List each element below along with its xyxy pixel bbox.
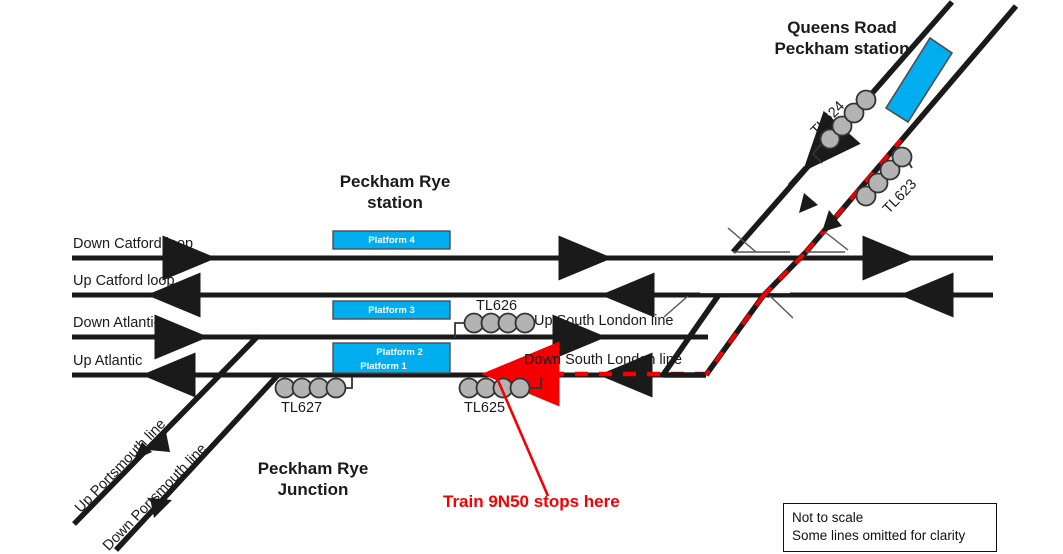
label-down-south-london-line: Down South London line bbox=[524, 352, 682, 368]
track-label-up-catford-loop: Up Catford loop bbox=[73, 273, 175, 289]
crossover-highlighted bbox=[706, 296, 793, 375]
track-label-down-catford-loop: Down Catford loop bbox=[73, 236, 193, 252]
signal-label-tl625: TL625 bbox=[464, 400, 505, 416]
peckham-rye-junction-title: Peckham Rye Junction bbox=[218, 459, 408, 500]
track-label-up-atlantic: Up Atlantic bbox=[73, 353, 142, 369]
legend-line-2: Some lines omitted for clarity bbox=[792, 527, 988, 545]
train-stop-annotation: Train 9N50 stops here bbox=[443, 492, 620, 512]
railway-diagram-canvas: Queens Road Peckham station Peckham Rye … bbox=[0, 0, 1063, 554]
junction-title-line2: Junction bbox=[218, 480, 408, 501]
platform-1-label: Platform 1 bbox=[325, 361, 442, 372]
track-label-down-atlantic: Down Atlantic bbox=[73, 315, 161, 331]
peckham-rye-title-line1: Peckham Rye bbox=[285, 172, 505, 193]
queens-road-title-line1: Queens Road bbox=[732, 18, 952, 39]
platform-2-label: Platform 2 bbox=[341, 347, 458, 358]
platform-3-label: Platform 3 bbox=[333, 305, 450, 316]
signal-label-tl626: TL626 bbox=[476, 298, 517, 314]
queens-road-station-title: Queens Road Peckham station bbox=[732, 18, 952, 59]
platform-4-label: Platform 4 bbox=[333, 235, 450, 246]
peckham-rye-title-line2: station bbox=[285, 193, 505, 214]
peckham-rye-station-title: Peckham Rye station bbox=[285, 172, 505, 213]
queens-road-title-line2: Peckham station bbox=[732, 39, 952, 60]
legend-box: Not to scale Some lines omitted for clar… bbox=[783, 503, 997, 552]
signal-label-tl627: TL627 bbox=[281, 400, 322, 416]
junction-title-line1: Peckham Rye bbox=[218, 459, 408, 480]
signal-tl626[interactable] bbox=[455, 314, 535, 339]
legend-line-1: Not to scale bbox=[792, 509, 988, 527]
label-up-south-london-line: Up South London line bbox=[534, 313, 673, 329]
signal-tl627[interactable] bbox=[276, 377, 353, 398]
